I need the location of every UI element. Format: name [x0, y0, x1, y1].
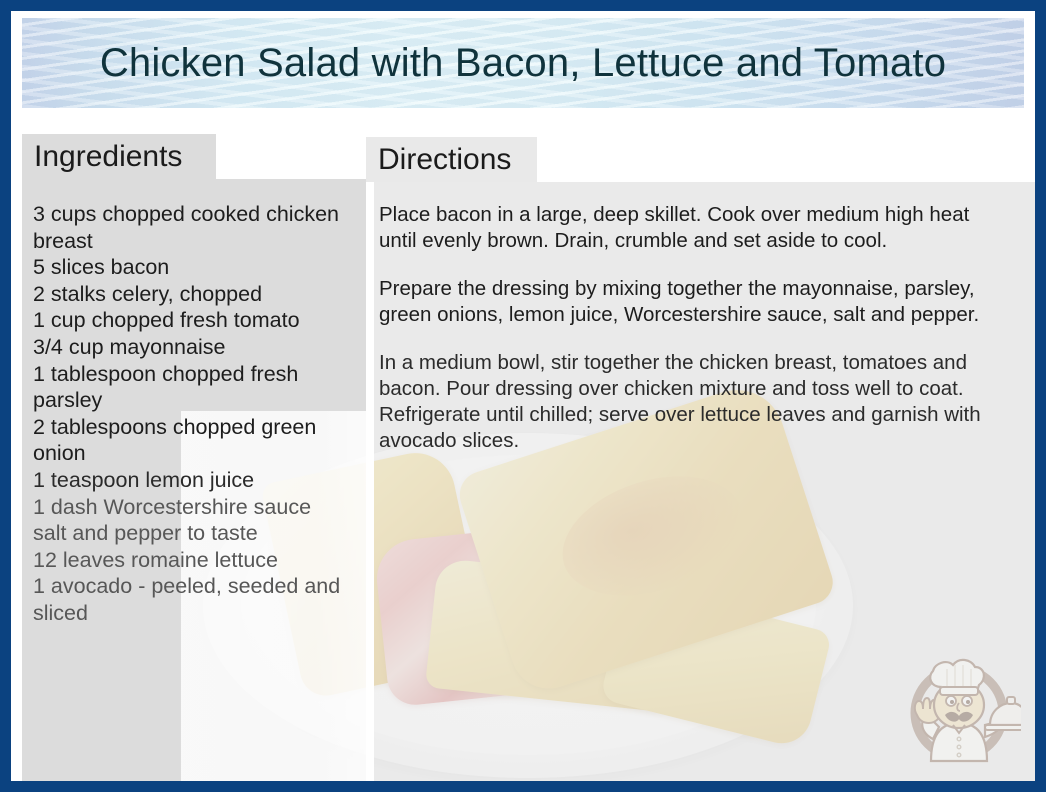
direction-step: Place bacon in a large, deep skillet. Co…: [379, 202, 1009, 254]
column-gutter: [366, 182, 374, 781]
list-item: 12 leaves romaine lettuce: [33, 547, 355, 574]
list-item: 2 tablespoons chopped green onion: [33, 414, 355, 467]
direction-step: Prepare the dressing by mixing together …: [379, 276, 1009, 328]
ingredients-list: 3 cups chopped cooked chicken breast 5 s…: [33, 201, 355, 627]
list-item: 2 stalks celery, chopped: [33, 281, 355, 308]
list-item: 3/4 cup mayonnaise: [33, 334, 355, 361]
tab-ingredients[interactable]: Ingredients: [22, 134, 216, 179]
tab-directions[interactable]: Directions: [366, 137, 537, 182]
list-item: 1 dash Worcestershire sauce: [33, 494, 355, 521]
list-item: 1 tablespoon chopped fresh parsley: [33, 361, 355, 414]
list-item: 1 cup chopped fresh tomato: [33, 307, 355, 334]
chef-mascot-logo: [897, 643, 1021, 767]
list-item: 1 avocado - peeled, seeded and sliced: [33, 573, 355, 626]
direction-step: In a medium bowl, stir together the chic…: [379, 350, 1009, 454]
list-item: 5 slices bacon: [33, 254, 355, 281]
recipe-card: Chicken Salad with Bacon, Lettuce and To…: [11, 11, 1035, 781]
list-item: 1 teaspoon lemon juice: [33, 467, 355, 494]
list-item: salt and pepper to taste: [33, 520, 355, 547]
directions-list: Place bacon in a large, deep skillet. Co…: [379, 202, 1009, 476]
recipe-card-screen: Chicken Salad with Bacon, Lettuce and To…: [0, 0, 1046, 792]
title-banner: Chicken Salad with Bacon, Lettuce and To…: [22, 18, 1024, 108]
page-title: Chicken Salad with Bacon, Lettuce and To…: [22, 18, 1024, 108]
list-item: 3 cups chopped cooked chicken breast: [33, 201, 355, 254]
